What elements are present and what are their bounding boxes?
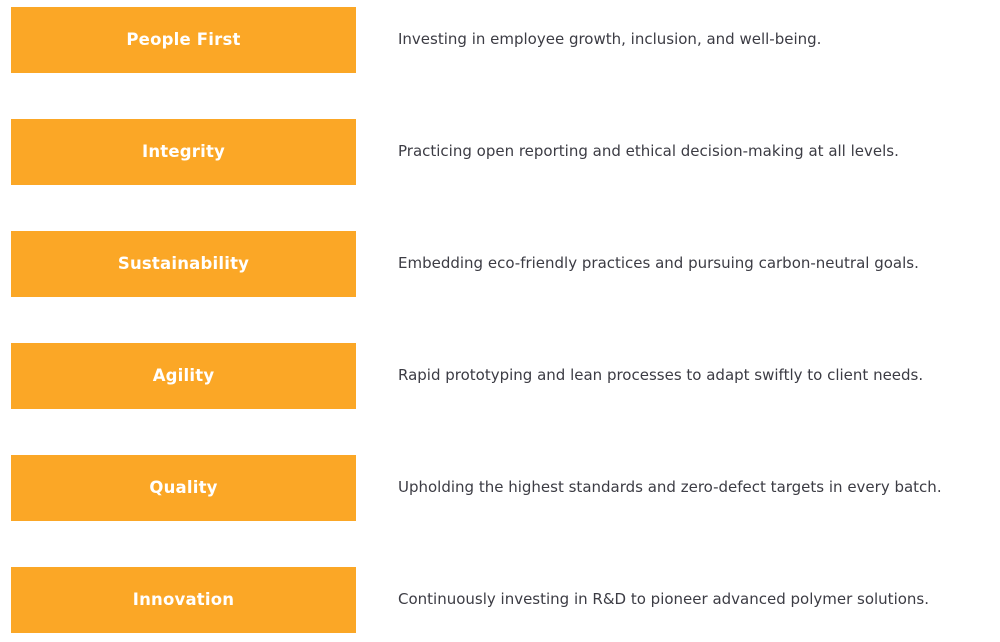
- value-bar-agility[interactable]: Agility: [11, 343, 356, 409]
- value-bar-label: Quality: [149, 480, 217, 497]
- value-bar-label: People First: [126, 32, 240, 49]
- value-description: Investing in employee growth, inclusion,…: [398, 7, 998, 73]
- value-description: Rapid prototyping and lean processes to …: [398, 343, 998, 409]
- value-row: Agility Rapid prototyping and lean proce…: [0, 343, 1000, 409]
- value-row: Innovation Continuously investing in R&D…: [0, 567, 1000, 633]
- value-description: Continuously investing in R&D to pioneer…: [398, 567, 998, 633]
- values-board: People First Investing in employee growt…: [0, 0, 1000, 642]
- value-bar-label: Integrity: [142, 144, 225, 161]
- value-description: Upholding the highest standards and zero…: [398, 455, 998, 521]
- value-row: Quality Upholding the highest standards …: [0, 455, 1000, 521]
- value-description: Embedding eco-friendly practices and pur…: [398, 231, 998, 297]
- value-row: Integrity Practicing open reporting and …: [0, 119, 1000, 185]
- value-bar-label: Agility: [153, 368, 215, 385]
- value-bar-label: Innovation: [133, 592, 234, 609]
- value-bar-sustainability[interactable]: Sustainability: [11, 231, 356, 297]
- value-row: People First Investing in employee growt…: [0, 7, 1000, 73]
- value-bar-integrity[interactable]: Integrity: [11, 119, 356, 185]
- value-bar-label: Sustainability: [118, 256, 249, 273]
- value-row: Sustainability Embedding eco-friendly pr…: [0, 231, 1000, 297]
- value-bar-people-first[interactable]: People First: [11, 7, 356, 73]
- value-bar-quality[interactable]: Quality: [11, 455, 356, 521]
- value-bar-innovation[interactable]: Innovation: [11, 567, 356, 633]
- value-description: Practicing open reporting and ethical de…: [398, 119, 998, 185]
